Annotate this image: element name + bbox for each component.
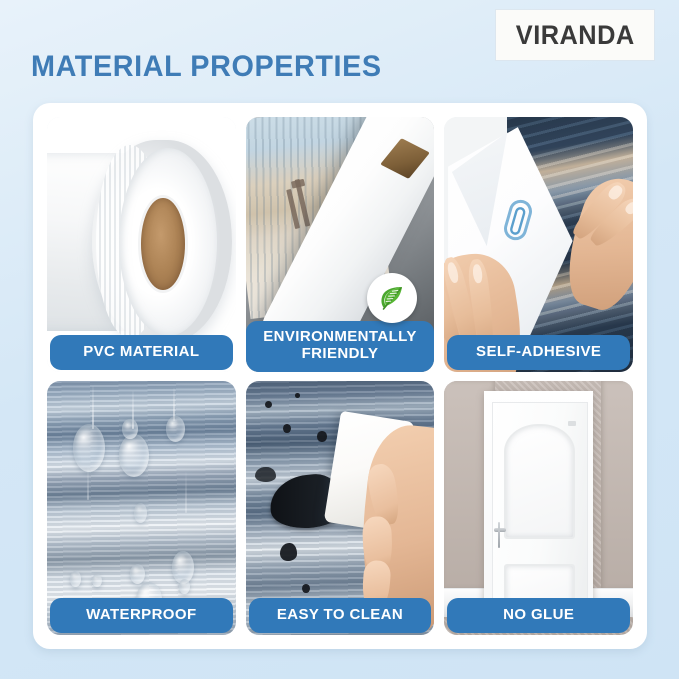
feature-board: PVC MATERIAL [33, 103, 647, 649]
water-drop-icon [47, 381, 236, 636]
feature-tile-no-glue[interactable]: NO GLUE [444, 381, 633, 636]
paperclip-icon [444, 117, 633, 372]
feature-tile-easy-to-clean[interactable]: EASY TO CLEAN [246, 381, 435, 636]
feature-label-pvc-material: PVC MATERIAL [50, 335, 233, 370]
brand-name: VIRANDA [516, 20, 635, 51]
infographic-page: VIRANDA MATERIAL PROPERTIES PVC MATERIAL [0, 0, 679, 679]
door-icon [444, 381, 633, 636]
brand-logo: VIRANDA [496, 10, 654, 60]
door-handle-icon [494, 522, 507, 548]
feature-label-waterproof: WATERPROOF [50, 598, 233, 633]
feature-tile-environmentally-friendly[interactable]: ENVIRONMENTALLY FRIENDLY [246, 117, 435, 372]
feature-label-no-glue: NO GLUE [447, 598, 630, 633]
feature-label-self-adhesive: SELF-ADHESIVE [447, 335, 630, 370]
feature-tile-waterproof[interactable]: WATERPROOF [47, 381, 236, 636]
feature-tile-pvc-material[interactable]: PVC MATERIAL [47, 117, 236, 372]
cloth-wipe-icon [246, 381, 435, 636]
feature-grid: PVC MATERIAL [47, 117, 633, 635]
feature-label-line2: FRIENDLY [248, 346, 433, 363]
roll-icon [47, 117, 236, 372]
feature-label-environmentally-friendly: ENVIRONMENTALLY FRIENDLY [246, 321, 435, 372]
feature-tile-self-adhesive[interactable]: SELF-ADHESIVE [444, 117, 633, 372]
feature-label-line1: ENVIRONMENTALLY [248, 329, 433, 346]
page-title: MATERIAL PROPERTIES [31, 50, 382, 84]
feature-label-easy-to-clean: EASY TO CLEAN [249, 598, 432, 633]
